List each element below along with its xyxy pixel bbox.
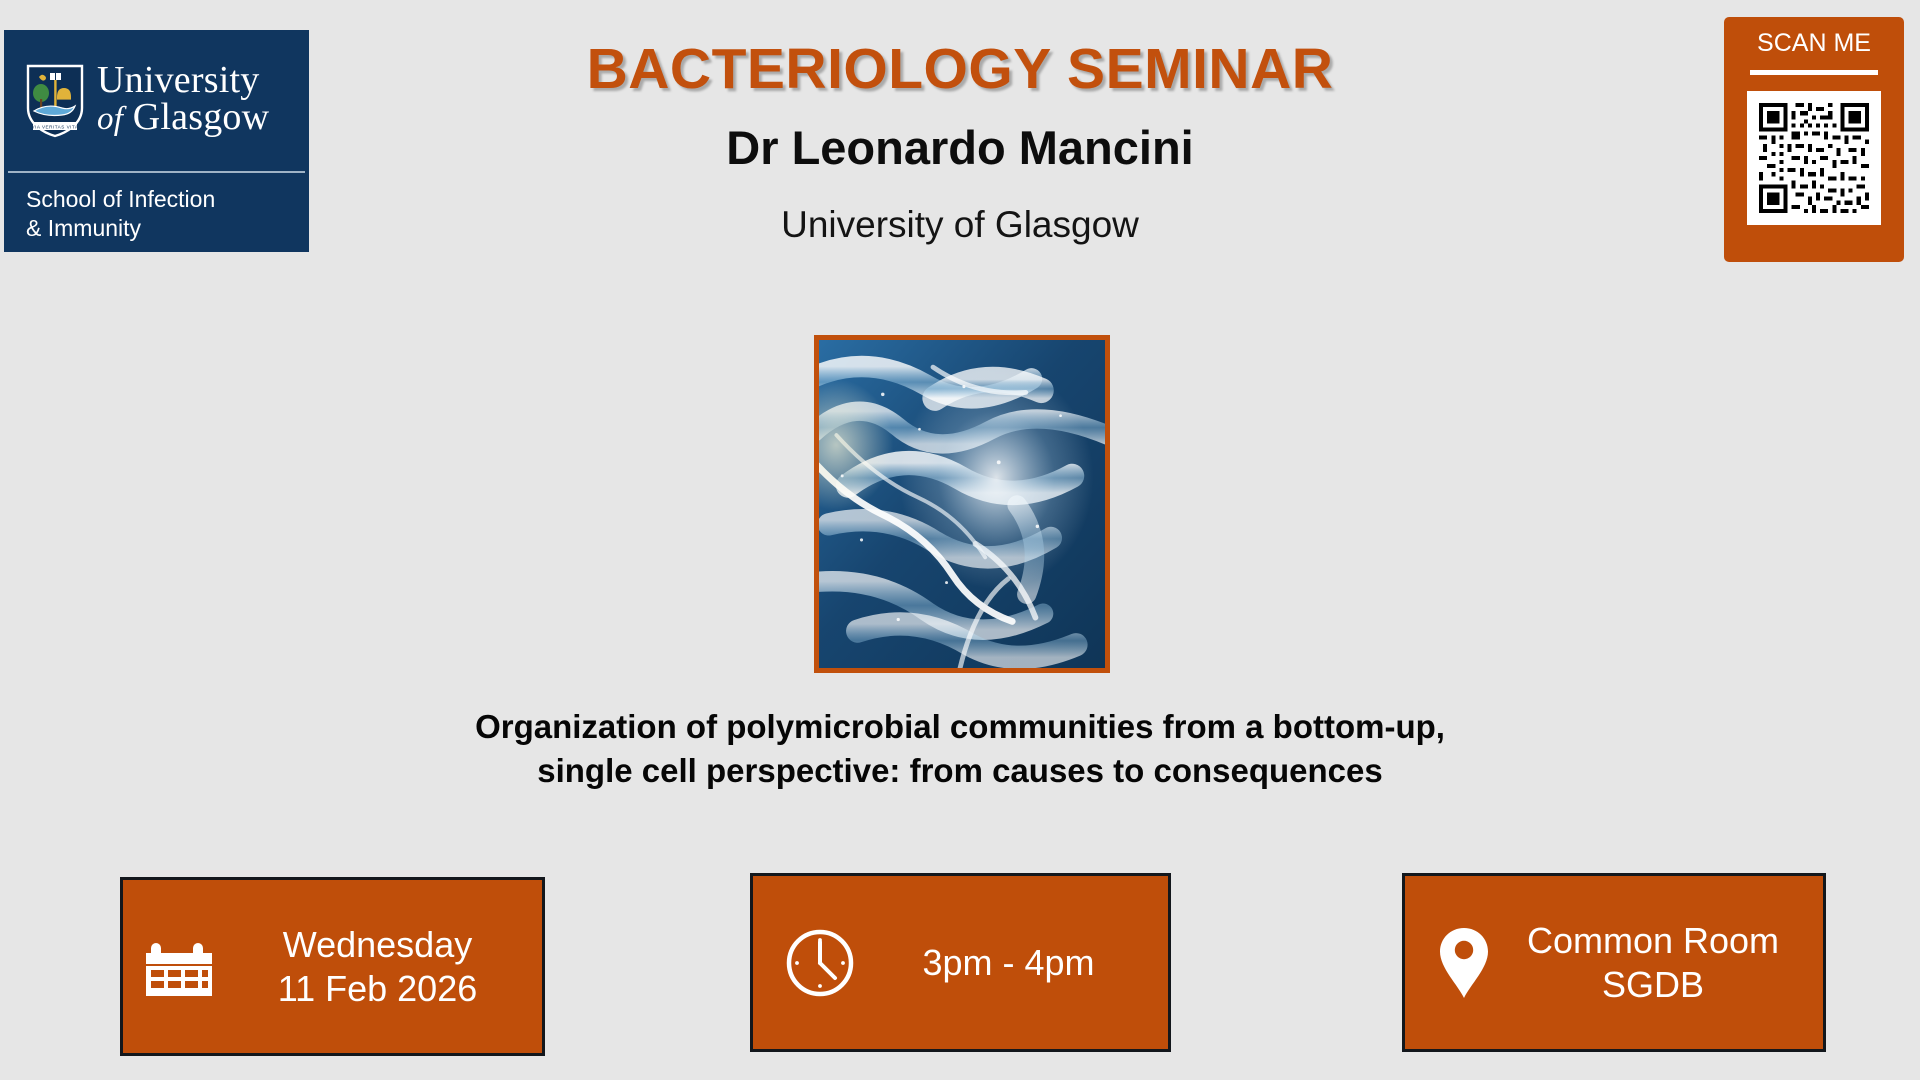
venue-info-box: Common Room SGDB [1402,873,1826,1052]
speaker-affiliation: University of Glasgow [0,204,1920,246]
venue-text: Common Room SGDB [1501,919,1805,1007]
talk-title: Organization of polymicrobial communitie… [0,705,1920,793]
clock-icon [783,926,857,1000]
clock-icon-wrap [781,926,859,1000]
talk-title-line-1: Organization of polymicrobial communitie… [0,705,1920,749]
bacteria-dna-illustration [819,340,1105,668]
date-info-box: Wednesday 11 Feb 2026 [120,877,545,1056]
date-line-2: 11 Feb 2026 [227,967,528,1011]
time-text: 3pm - 4pm [869,941,1148,985]
scan-me-label: SCAN ME [1724,25,1904,56]
map-pin-icon-wrap [1433,923,1495,1003]
time-info-box: 3pm - 4pm [750,873,1171,1052]
seminar-hero-image [814,335,1110,673]
seminar-title: BACTERIOLOGY SEMINAR [0,36,1920,102]
speaker-name: Dr Leonardo Mancini [0,120,1920,175]
date-text: Wednesday 11 Feb 2026 [227,923,528,1011]
calendar-icon-wrap [141,931,219,1003]
qr-code-container[interactable] [1747,91,1881,225]
date-line-1: Wednesday [227,923,528,967]
calendar-icon [143,931,217,1003]
scan-me-qr-badge[interactable]: SCAN ME [1724,17,1904,262]
talk-title-line-2: single cell perspective: from causes to … [0,749,1920,793]
map-pin-icon [1436,923,1492,1003]
venue-line-2: SGDB [1501,963,1805,1007]
qr-divider [1750,70,1878,75]
time-line-1: 3pm - 4pm [869,941,1148,985]
venue-line-1: Common Room [1501,919,1805,963]
qr-code-icon [1755,99,1873,217]
